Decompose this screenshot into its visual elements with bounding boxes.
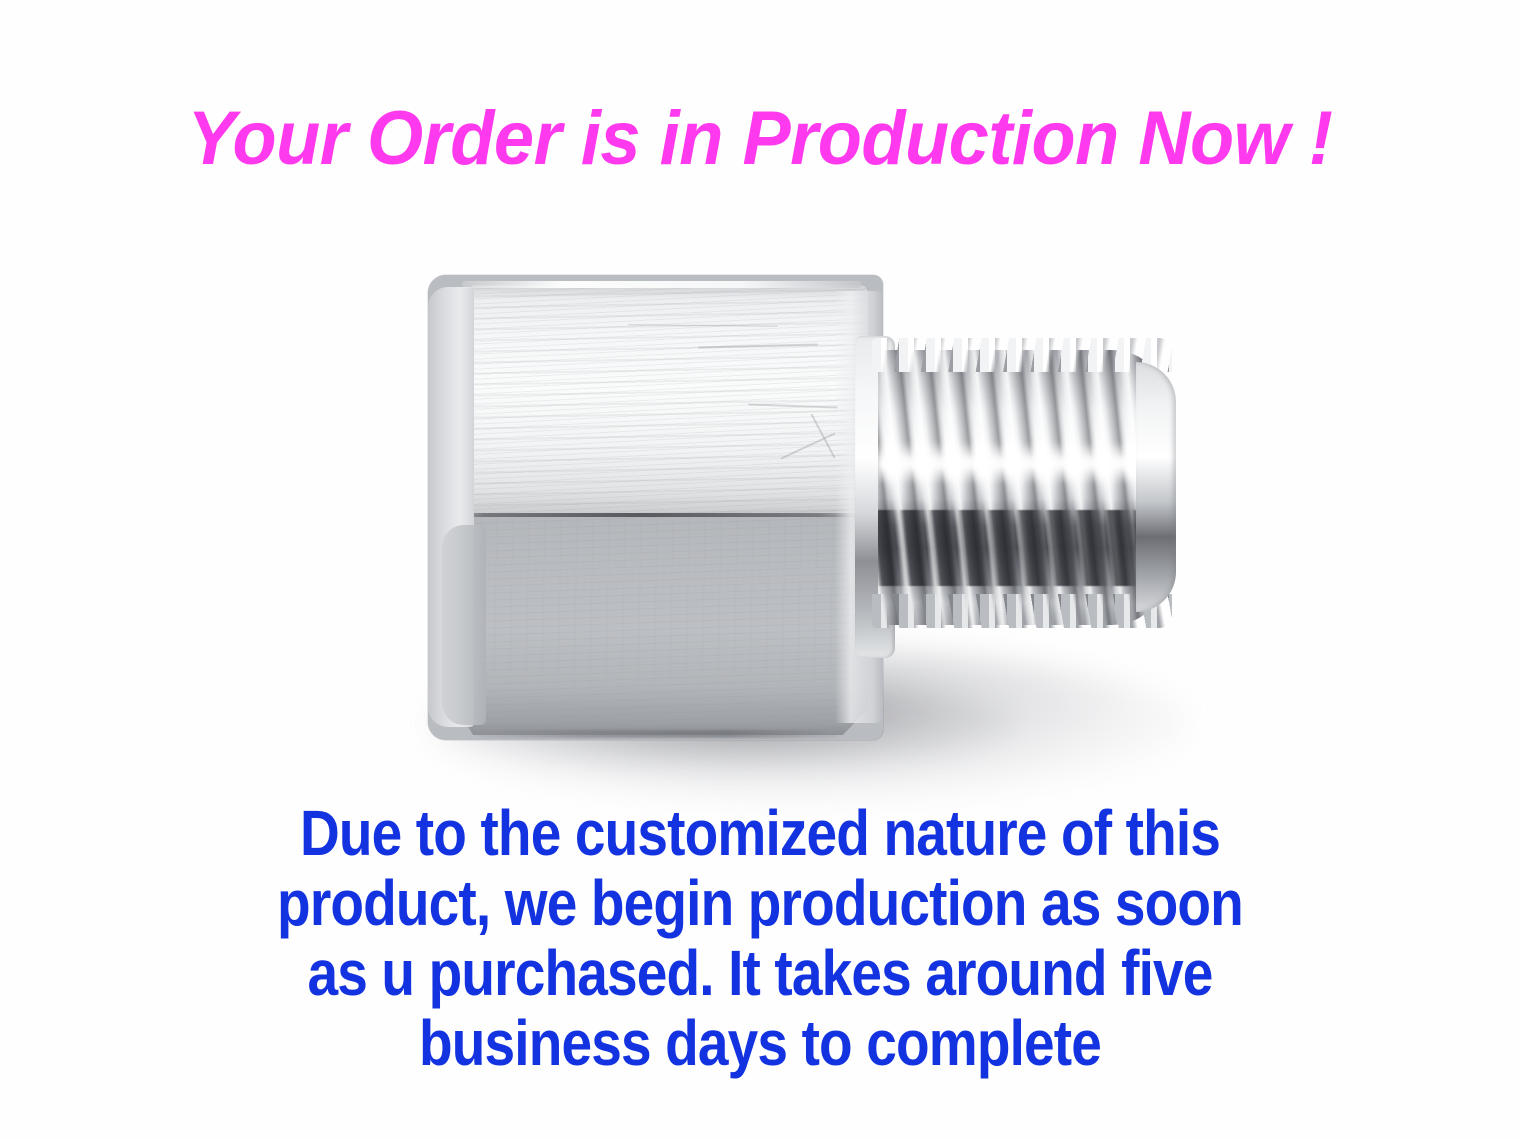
thread-crests-top [872, 338, 1172, 372]
hex-upper-facet [448, 285, 868, 515]
thread-cylinder [878, 350, 1168, 625]
body-line-1: Due to the customized nature of this [106, 798, 1413, 868]
brushed-texture-lower [448, 517, 868, 735]
hex-body-part [428, 275, 883, 740]
male-thread-part [878, 332, 1178, 642]
hex-lower-left-chamfer [442, 525, 486, 725]
headline-text: Your Order is in Production Now ! [38, 96, 1482, 182]
product-photo [400, 250, 1220, 770]
machining-lines-upper-coarse [448, 285, 868, 515]
thread-crests-bottom [872, 594, 1172, 628]
thread-specular-highlight [878, 442, 1168, 484]
hex-lower-facet [448, 517, 868, 735]
body-text-block: Due to the customized nature of this pro… [106, 798, 1413, 1078]
hex-body-silhouette [428, 275, 883, 740]
body-line-4: business days to complete [106, 1008, 1413, 1078]
hex-facet-divider-edge [450, 513, 868, 517]
hex-top-edge-highlight [462, 281, 862, 288]
hex-bottom-edge-shade [478, 730, 838, 738]
thread-root-shadows [878, 510, 1168, 586]
body-line-3: as u purchased. It takes around five [106, 938, 1413, 1008]
body-line-2: product, we begin production as soon [106, 868, 1413, 938]
image-canvas: Your Order is in Production Now ! [0, 0, 1520, 1140]
thread-nose-end-cap [1136, 362, 1176, 612]
